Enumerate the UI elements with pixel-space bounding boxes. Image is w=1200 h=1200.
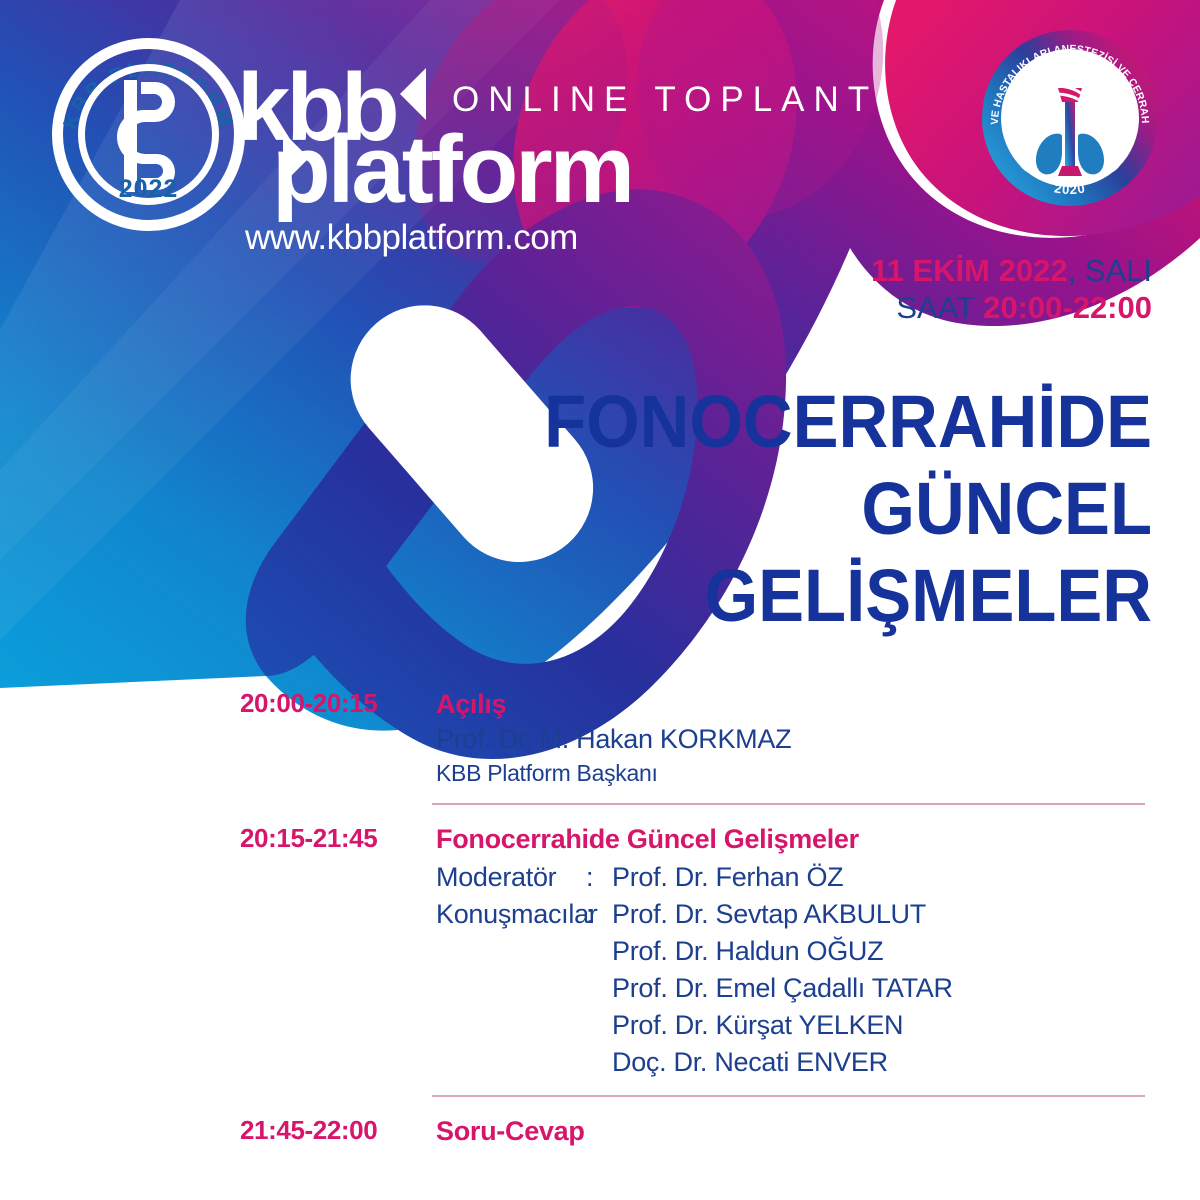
- program-title: Açılış: [436, 686, 1145, 722]
- program-separator: [432, 803, 1145, 805]
- speaker-name: Prof. Dr. Emel Çadallı TATAR: [612, 970, 1145, 1007]
- speakers-row: Konuşmacılar : Prof. Dr. Sevtap AKBULUT: [436, 896, 1145, 933]
- program-time: 20:00-20:15: [240, 686, 436, 789]
- speaker-name: Prof. Dr. Sevtap AKBULUT: [612, 896, 926, 933]
- title-line-3: GELİŞMELER: [501, 552, 1152, 639]
- program-time: 20:15-21:45: [240, 821, 436, 1081]
- program-title: Fonocerrahide Güncel Gelişmeler: [436, 821, 1145, 857]
- event-weekday: , SALI: [1068, 253, 1152, 288]
- association-emblem: HAVA YOLU VE HASTALIKLARI ANESTEZİSİ VE …: [982, 30, 1158, 206]
- program-people: Moderatör : Prof. Dr. Ferhan ÖZ Konuşmac…: [436, 859, 1145, 1081]
- program-separator: [432, 1095, 1145, 1097]
- speakers-label: Konuşmacılar: [436, 896, 586, 933]
- badge-year: 2022: [52, 175, 245, 204]
- program-body: Fonocerrahide Güncel Gelişmeler Moderatö…: [436, 821, 1145, 1081]
- speaker-name: Doç. Dr. Necati ENVER: [612, 1044, 1145, 1081]
- title-line-1: FONOCERRAHİDE: [501, 378, 1152, 465]
- triangle-left-icon: [400, 68, 426, 120]
- program-body: Açılış Prof. Dr. M. Hakan KORKMAZ KBB Pl…: [436, 686, 1145, 789]
- kbb-platform-badge: KBB PLATFORM 2022: [52, 38, 245, 231]
- program-speaker-role: KBB Platform Başkanı: [436, 757, 1145, 789]
- program-time: 21:45-22:00: [240, 1113, 436, 1149]
- speakers-colon: :: [586, 896, 612, 933]
- program-row: 20:00-20:15 Açılış Prof. Dr. M. Hakan KO…: [0, 686, 1200, 789]
- program-body: Soru-Cevap: [436, 1113, 1145, 1149]
- program-title: Soru-Cevap: [436, 1113, 1145, 1149]
- program-row: 21:45-22:00 Soru-Cevap: [0, 1113, 1200, 1149]
- event-datetime: 11 EKİM 2022, SALI SAAT 20:00-22:00: [871, 252, 1152, 326]
- event-time-range: 20:00-22:00: [983, 290, 1152, 325]
- speaker-name: Prof. Dr. Haldun OĞUZ: [612, 933, 1145, 970]
- event-date-line: 11 EKİM 2022, SALI: [871, 252, 1152, 289]
- moderator-colon: :: [586, 859, 612, 896]
- moderator-label: Moderatör: [436, 859, 586, 896]
- kicker-online-toplanti: ONLINE TOPLANTI: [452, 80, 897, 120]
- moderator-row: Moderatör : Prof. Dr. Ferhan ÖZ: [436, 859, 1145, 896]
- program-speaker: Prof. Dr. M. Hakan KORKMAZ: [436, 722, 1145, 757]
- emblem-year: 2020: [1053, 180, 1087, 197]
- poster-canvas: KBB PLATFORM 2022 kbb platform ONLINE TO…: [0, 0, 1200, 1200]
- page-title: FONOCERRAHİDE GÜNCEL GELİŞMELER: [501, 378, 1152, 639]
- event-date: 11 EKİM 2022: [871, 253, 1067, 288]
- program-row: 20:15-21:45 Fonocerrahide Güncel Gelişme…: [0, 821, 1200, 1081]
- speaker-name: Prof. Dr. Kürşat YELKEN: [612, 1007, 1145, 1044]
- title-line-2: GÜNCEL: [501, 465, 1152, 552]
- moderator-name: Prof. Dr. Ferhan ÖZ: [612, 859, 843, 896]
- event-time-prefix: SAAT: [896, 290, 983, 325]
- program-schedule: 20:00-20:15 Açılış Prof. Dr. M. Hakan KO…: [0, 686, 1200, 1149]
- event-time-line: SAAT 20:00-22:00: [871, 289, 1152, 326]
- website-url: www.kbbplatform.com: [245, 218, 578, 258]
- wordmark-platform: platform: [272, 122, 632, 218]
- svg-text:2020: 2020: [1053, 180, 1087, 197]
